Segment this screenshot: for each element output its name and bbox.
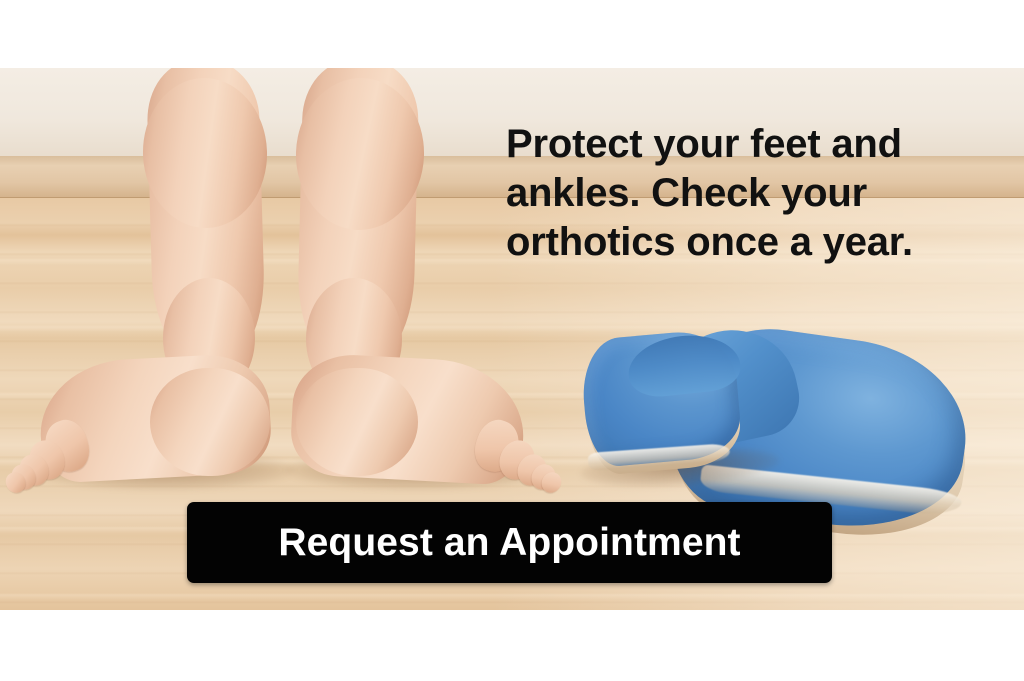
request-appointment-button[interactable]: Request an Appointment — [187, 502, 832, 583]
banner-screen: Protect your feet and ankles. Check your… — [0, 0, 1024, 681]
banner-headline: Protect your feet and ankles. Check your… — [506, 120, 956, 267]
promo-banner: Protect your feet and ankles. Check your… — [0, 68, 1024, 610]
